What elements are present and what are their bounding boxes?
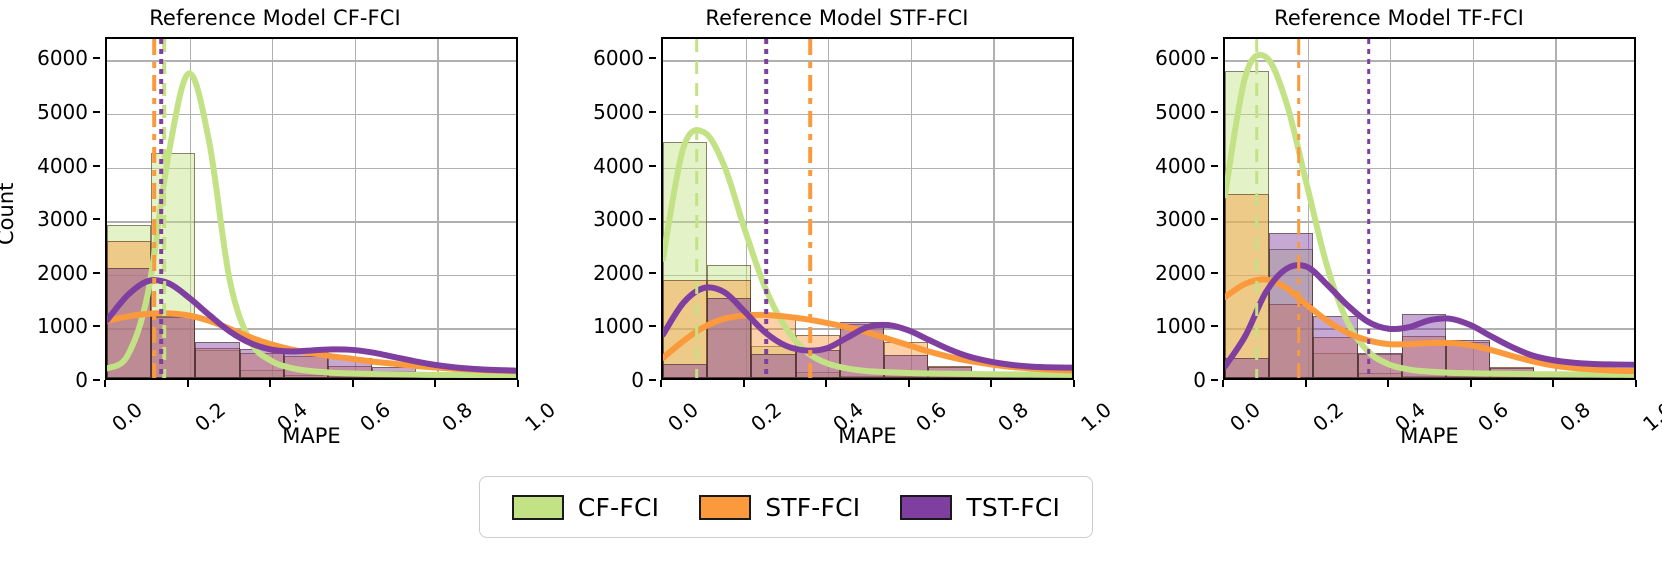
x-axis-title: MAPE [1223, 424, 1636, 448]
y-tick-mark [649, 57, 656, 59]
y-tick-mark [1211, 325, 1218, 327]
y-tick-label: 6000 [1155, 46, 1206, 70]
x-tick-mark [1635, 380, 1637, 387]
plot-area [1223, 37, 1636, 380]
x-tick-mark [1222, 380, 1224, 387]
y-tick-label: 2000 [37, 261, 88, 285]
x-tick-mark [743, 380, 745, 387]
legend-label: TST-FCI [966, 493, 1060, 522]
y-tick-label: 4000 [1155, 154, 1206, 178]
y-tick-mark [93, 57, 100, 59]
y-tick-mark [1211, 379, 1218, 381]
y-tick-mark [1211, 111, 1218, 113]
x-tick-mark [269, 380, 271, 387]
y-tick-mark [649, 218, 656, 220]
y-tick-mark [1211, 218, 1218, 220]
y-tick-mark [649, 325, 656, 327]
y-tick-label: 1000 [1155, 314, 1206, 338]
legend-swatch-icon [699, 495, 751, 520]
x-tick-mark [104, 380, 106, 387]
legend-swatch-icon [900, 495, 952, 520]
y-tick-label: 4000 [37, 154, 88, 178]
x-tick-mark [517, 380, 519, 387]
y-tick-label: 2000 [593, 261, 644, 285]
y-tick-label: 6000 [37, 46, 88, 70]
legend-item-stf-fci[interactable]: STF-FCI [699, 493, 860, 522]
x-tick-mark [1073, 380, 1075, 387]
x-tick-mark [1552, 380, 1554, 387]
x-tick-mark [1305, 380, 1307, 387]
legend-item-tst-fci[interactable]: TST-FCI [900, 493, 1060, 522]
legend-item-cf-fci[interactable]: CF-FCI [512, 493, 659, 522]
legend-label: STF-FCI [765, 493, 860, 522]
reference-line-cf-fci [1255, 39, 1259, 378]
reference-line-tst-fci [1367, 39, 1371, 378]
y-tick-label: 4000 [593, 154, 644, 178]
y-axis: 0100020003000400050006000 [550, 37, 656, 380]
plot-area [661, 37, 1074, 380]
y-tick-label: 3000 [37, 207, 88, 231]
chart-panel-2: Reference Model TF-FCI010002000300040005… [1100, 0, 1654, 460]
y-tick-label: 0 [1193, 368, 1206, 392]
reference-line-stf-fci [1297, 39, 1301, 378]
y-tick-label: 1000 [37, 314, 88, 338]
kde-curve-stf-fci [1225, 279, 1634, 371]
y-tick-mark [649, 379, 656, 381]
x-tick-label: 1.0 [1638, 397, 1662, 436]
reference-line-stf-fci [808, 39, 812, 378]
x-tick-mark [352, 380, 354, 387]
x-tick-mark [187, 380, 189, 387]
panel-title: Reference Model CF-FCI [0, 6, 552, 30]
y-tick-mark [93, 325, 100, 327]
x-tick-mark [434, 380, 436, 387]
y-tick-mark [93, 165, 100, 167]
x-tick-mark [1470, 380, 1472, 387]
plot-area [105, 37, 518, 380]
x-tick-mark [660, 380, 662, 387]
reference-line-cf-fci [695, 39, 699, 378]
y-tick-label: 6000 [593, 46, 644, 70]
y-tick-label: 2000 [1155, 261, 1206, 285]
kde-curve-tst-fci [663, 287, 1072, 367]
y-tick-label: 0 [75, 368, 88, 392]
y-tick-label: 1000 [593, 314, 644, 338]
y-tick-mark [649, 272, 656, 274]
kde-curve-cf-fci [1225, 55, 1634, 375]
y-tick-mark [649, 111, 656, 113]
x-axis-title: MAPE [105, 424, 518, 448]
y-tick-mark [93, 218, 100, 220]
kde-curve-layer [1225, 39, 1634, 378]
panel-title: Reference Model TF-FCI [1122, 6, 1662, 30]
kde-curve-tst-fci [107, 280, 516, 370]
y-tick-mark [649, 165, 656, 167]
y-axis: 0100020003000400050006000 [1100, 37, 1218, 380]
kde-curve-layer [107, 39, 516, 378]
y-axis: 0100020003000400050006000 [0, 37, 100, 380]
chart-panel-0: Reference Model CF-FCICount0100020003000… [0, 0, 554, 460]
chart-panel-1: Reference Model STF-FCI01000200030004000… [550, 0, 1104, 460]
legend-swatch-icon [512, 495, 564, 520]
x-tick-mark [990, 380, 992, 387]
y-tick-mark [93, 111, 100, 113]
legend-label: CF-FCI [578, 493, 659, 522]
x-tick-mark [825, 380, 827, 387]
y-tick-label: 5000 [593, 100, 644, 124]
legend: CF-FCISTF-FCITST-FCI [479, 476, 1093, 538]
kde-curve-cf-fci [107, 73, 516, 375]
y-tick-mark [1211, 165, 1218, 167]
y-tick-label: 3000 [593, 207, 644, 231]
y-tick-mark [1211, 272, 1218, 274]
y-tick-label: 3000 [1155, 207, 1206, 231]
x-tick-mark [908, 380, 910, 387]
kde-curve-stf-fci [107, 313, 516, 371]
x-tick-mark [1387, 380, 1389, 387]
reference-line-tst-fci [764, 39, 768, 378]
kde-curve-tst-fci [1225, 265, 1634, 366]
kde-curve-cf-fci [663, 130, 1072, 375]
y-tick-label: 5000 [1155, 100, 1206, 124]
y-tick-label: 5000 [37, 100, 88, 124]
x-axis-title: MAPE [661, 424, 1074, 448]
kde-curve-layer [663, 39, 1072, 378]
y-tick-mark [93, 272, 100, 274]
figure-canvas: Reference Model CF-FCICount0100020003000… [0, 0, 1662, 569]
reference-line-tst-fci [159, 39, 163, 378]
panel-title: Reference Model STF-FCI [560, 6, 1114, 30]
y-tick-mark [1211, 57, 1218, 59]
y-tick-label: 0 [631, 368, 644, 392]
reference-line-stf-fci [153, 39, 157, 378]
y-tick-mark [93, 379, 100, 381]
